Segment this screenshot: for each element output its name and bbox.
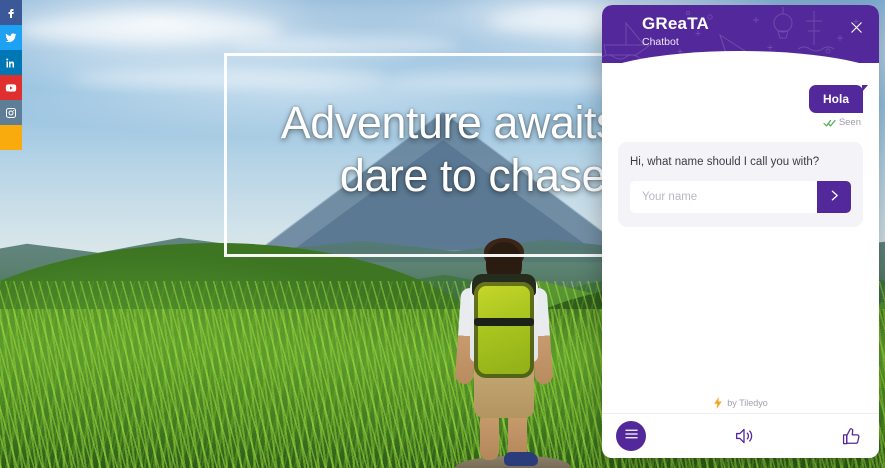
prompt-question: Hi, what name should I call you with? <box>630 155 851 170</box>
name-prompt-card: Hi, what name should I call you with? <box>618 142 863 227</box>
share-more-icon <box>5 132 17 144</box>
close-button[interactable] <box>845 19 867 41</box>
message-bubble: Hola <box>809 85 863 113</box>
close-icon <box>849 20 864 40</box>
menu-button[interactable] <box>616 421 646 451</box>
sound-toggle-button[interactable] <box>734 427 754 445</box>
message-status-label: Seen <box>839 117 861 128</box>
chatbot-toolbar <box>602 414 879 458</box>
hero-headline: Adventure awaits dare to chase. <box>224 96 618 202</box>
chat-message-outgoing: Hola <box>618 85 863 113</box>
social-share-rail <box>0 0 22 150</box>
social-button-twitter[interactable] <box>0 25 22 50</box>
social-button-youtube[interactable] <box>0 75 22 100</box>
youtube-icon <box>5 82 17 94</box>
double-check-icon <box>823 118 836 128</box>
chatbot-subtitle: Chatbot <box>642 35 865 49</box>
lightning-bolt-icon <box>713 397 723 409</box>
hamburger-menu-icon <box>624 427 639 445</box>
social-button-more[interactable] <box>0 125 22 150</box>
chatbot-header: GReaTA Chatbot <box>602 5 879 63</box>
chatbot-title: GReaTA <box>642 14 865 34</box>
send-button[interactable] <box>817 181 851 213</box>
social-button-linkedin[interactable] <box>0 50 22 75</box>
cloud <box>230 35 460 55</box>
speaker-sound-icon <box>734 427 754 445</box>
headline-line-1: Adventure awaits <box>224 96 618 149</box>
headline-line-2: dare to chase. <box>224 149 618 202</box>
message-status: Seen <box>618 117 863 128</box>
social-button-instagram[interactable] <box>0 100 22 125</box>
linkedin-icon <box>5 57 17 69</box>
chat-message-list: Hola Seen Hi, what name should I call yo… <box>602 63 879 392</box>
chevron-right-icon <box>828 189 841 205</box>
cloud <box>71 70 390 87</box>
social-button-facebook[interactable] <box>0 0 22 25</box>
instagram-icon <box>5 107 17 119</box>
twitter-icon <box>5 32 17 44</box>
name-input[interactable] <box>630 181 817 213</box>
page-root: Adventure awaits dare to chase. <box>0 0 885 468</box>
facebook-icon <box>5 7 17 19</box>
like-button[interactable] <box>842 427 861 446</box>
chatbot-branding: by Tiledyo <box>602 392 879 414</box>
branding-label: by Tiledyo <box>727 398 768 408</box>
prompt-input-group <box>630 181 851 213</box>
chatbot-widget: GReaTA Chatbot Hola Seen <box>602 5 879 458</box>
thumbs-up-icon <box>842 427 861 446</box>
